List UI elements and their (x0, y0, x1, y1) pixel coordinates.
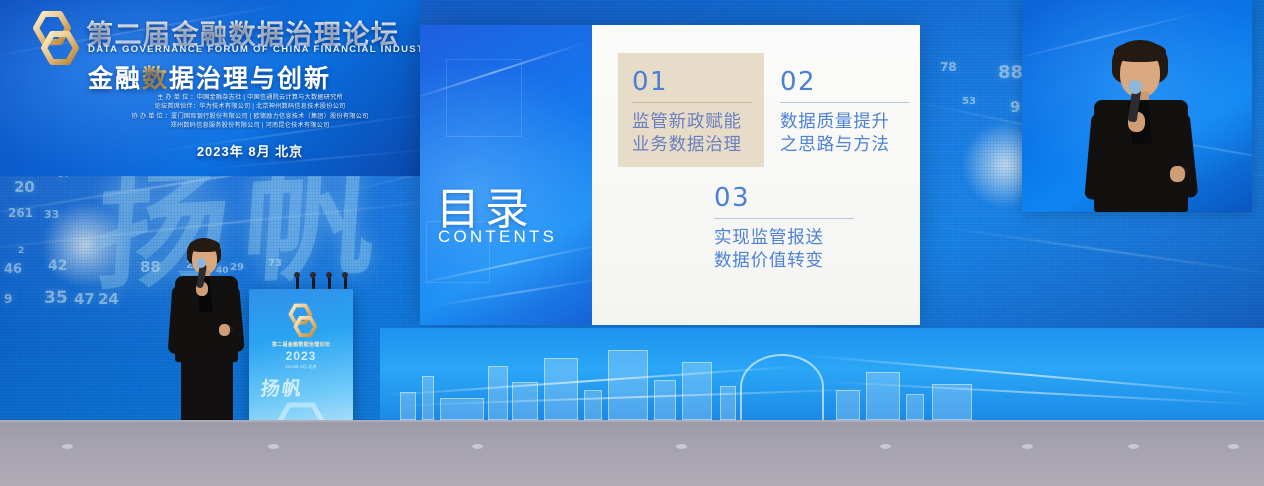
organizer-line: 郑州数码信息服务股份有限公司 | 河南昆仑技术有限公司 (100, 121, 400, 130)
building (682, 362, 712, 420)
decor-box (446, 59, 522, 137)
toc-text-line2: 业务数据治理 (632, 134, 752, 157)
toc-divider (632, 102, 752, 103)
live-camera-feed-panel (1022, 0, 1252, 212)
building (544, 358, 578, 420)
hand-holding-clicker (1170, 166, 1185, 182)
backdrop-number: 88 (140, 258, 161, 276)
backdrop-number: 42 (48, 258, 67, 274)
organizer-line: 主 办 单 位 ：中国金融杂志社 | 中国信通院云计算与大数据研究所 (100, 93, 400, 102)
toc-number: 03 (714, 185, 854, 211)
floor-light (1022, 444, 1033, 449)
backdrop-number: 88 (998, 62, 1023, 83)
interlocking-hexagon-logo-icon (22, 10, 84, 68)
floor-light (62, 444, 73, 449)
hand-holding-clicker (219, 324, 230, 336)
light-streak (932, 225, 1264, 277)
toc-text-line1: 监管新政赋能 (632, 111, 752, 134)
podium-hexagon-logo-icon (281, 303, 321, 339)
podium-year: 2023 (249, 349, 353, 363)
toc-item-01[interactable]: 01 监管新政赋能 业务数据治理 (618, 53, 764, 167)
floor-light (880, 444, 891, 449)
stage-floor (0, 420, 1264, 486)
banner-title-en: DATA GOVERNANCE FORUM OF CHINA FINANCIAL… (88, 44, 420, 55)
toc-text-line2: 数据价值转变 (714, 250, 854, 273)
building (906, 394, 924, 420)
toc-number: 02 (780, 69, 910, 95)
backdrop-number: 2 (18, 246, 24, 256)
floor-light (268, 444, 279, 449)
toc-divider (780, 102, 910, 103)
podium-date: 2023年 8月 北京 (249, 364, 353, 370)
mic-head (294, 272, 300, 278)
banner-organizer-list: 主 办 单 位 ：中国金融杂志社 | 中国信通院云计算与大数据研究所 论坛首席伙… (100, 93, 400, 131)
podium-title: 第二届金融数据治理论坛 (249, 341, 353, 348)
backdrop-number: 24 (98, 290, 119, 308)
toc-text-line1: 实现监管报送 (714, 227, 854, 250)
forum-banner: 第二届金融数据治理论坛 DATA GOVERNANCE FORUM OF CHI… (0, 0, 420, 176)
skyline-led-strip (380, 328, 1264, 420)
toc-item-02[interactable]: 02 数据质量提升 之思路与方法 (768, 53, 918, 157)
hair-front (1114, 42, 1166, 62)
backdrop-number: 261 (8, 206, 33, 220)
conference-stage-scene: 扬帆 819 6437 17 683 23 15 4 20 261 33 97 … (0, 0, 1264, 486)
backdrop-number: 20 (14, 178, 35, 196)
building (866, 372, 900, 420)
backdrop-number: 47 (74, 290, 95, 308)
backdrop-number: 73 (268, 258, 282, 269)
slide-title-panel: 目录 CONTENTS (420, 25, 592, 325)
building (488, 366, 508, 420)
toc-text-line2: 之思路与方法 (780, 134, 910, 157)
toc-number: 01 (632, 69, 752, 95)
banner-subtitle-part1: 金融 (88, 65, 142, 93)
microphone-head (1128, 80, 1142, 94)
floor-light (1228, 444, 1239, 449)
toc-divider (714, 218, 854, 219)
slide-content-panel: 01 监管新政赋能 业务数据治理 02 数据质量提升 之思路与方法 03 实现监… (592, 25, 920, 325)
backdrop-number: 35 (44, 288, 68, 308)
banner-date-location: 2023年 8月 北京 (100, 141, 400, 160)
floor-light (1128, 444, 1139, 449)
backdrop-number: 33 (44, 208, 59, 221)
backdrop-number: 9 (4, 292, 12, 306)
banner-subtitle-gold-char: 数 (142, 65, 169, 93)
mic-head (310, 272, 316, 278)
mic-head (342, 272, 348, 278)
building (422, 376, 434, 420)
mic-head (326, 272, 332, 278)
building (584, 390, 602, 420)
toc-text-line1: 数据质量提升 (780, 111, 910, 134)
backdrop-number: 53 (962, 96, 976, 107)
backdrop-number: 46 (4, 262, 22, 277)
building (608, 350, 648, 420)
presentation-slide: 目录 CONTENTS 01 监管新政赋能 业务数据治理 02 数据质量提升 之… (420, 25, 920, 325)
microphone-head (196, 258, 206, 268)
organizer-line: 协 办 单 位 ：厦门国际银行股份有限公司 | 欧德励力信息技术（集团）股份有限… (100, 112, 400, 121)
floor-light (676, 444, 687, 449)
floor-light (472, 444, 483, 449)
building (720, 386, 736, 420)
building (836, 390, 860, 420)
camera-speaker-figure (1078, 40, 1206, 212)
backdrop-number: 78 (940, 60, 957, 74)
slide-catalog-title-en: CONTENTS (438, 227, 557, 247)
banner-subtitle-part2: 据治理与创新 (169, 65, 331, 93)
banner-subtitle: 金融数据治理与创新 (88, 59, 331, 95)
arch-landmark (740, 354, 824, 420)
organizer-line: 论坛首席伙伴：华为技术有限公司 | 北京神州数码信息技术股份公司 (100, 102, 400, 111)
toc-item-03[interactable]: 03 实现监管报送 数据价值转变 (702, 177, 862, 273)
building (654, 380, 676, 420)
hair-front (189, 239, 220, 252)
